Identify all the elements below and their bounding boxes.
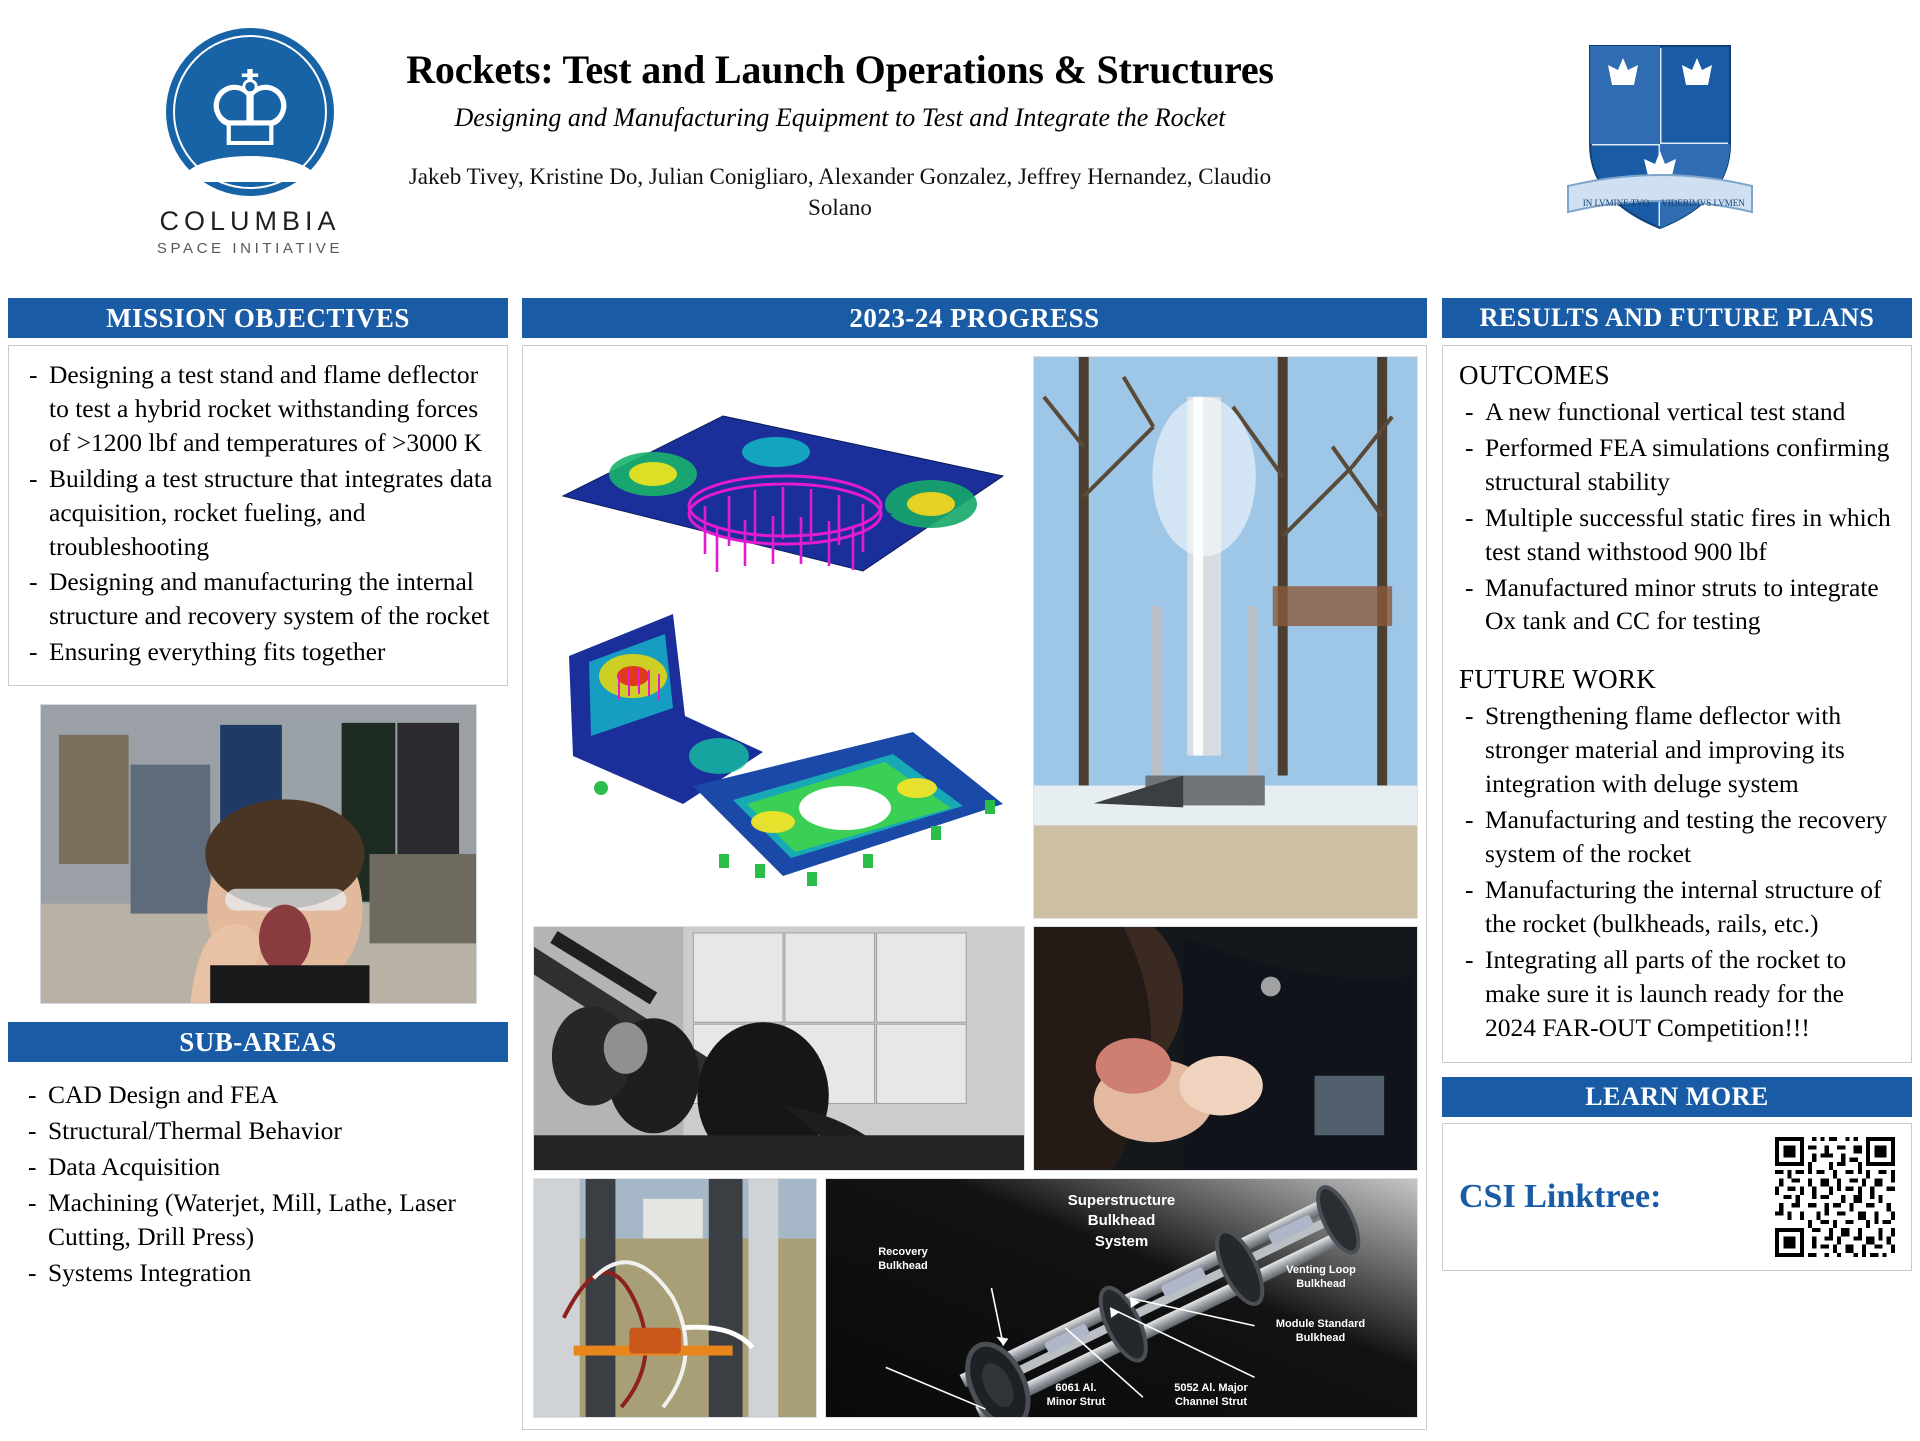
mission-objective-item: Building a test structure that integrate…: [19, 462, 493, 564]
learn-more-panel: CSI Linktree:: [1442, 1123, 1912, 1271]
crown-glyph-icon: ♔: [203, 57, 296, 161]
future-work-list: Strengthening flame deflector with stron…: [1455, 699, 1899, 1044]
outcomes-heading: OUTCOMES: [1459, 360, 1899, 391]
module-standard-bulkhead-label: Module Standard Bulkhead: [1238, 1317, 1403, 1346]
learn-more-header: LEARN MORE: [1442, 1077, 1912, 1117]
section-spacer: [1455, 640, 1899, 662]
static-fire-test-stand-photo: [1033, 356, 1418, 919]
recovery-bulkhead-label: Recovery Bulkhead: [848, 1245, 958, 1274]
csi-linktree-label: CSI Linktree:: [1459, 1178, 1661, 1216]
page-title: Rockets: Test and Launch Operations & St…: [400, 48, 1280, 93]
left-column: MISSION OBJECTIVES Designing a test stan…: [8, 298, 508, 1302]
sub-area-item: CAD Design and FEA: [18, 1078, 494, 1112]
poster-header: ♔ COLUMBIA SPACE INITIATIVE Rockets: Tes…: [0, 0, 1920, 292]
servo-mount-photo: [533, 1178, 817, 1418]
csi-linktree-qr-code[interactable]: [1775, 1137, 1895, 1257]
columbia-crown-icon: ♔: [166, 28, 334, 196]
sub-areas-header: SUB-AREAS: [8, 1022, 508, 1062]
mission-objectives-list: Designing a test stand and flame deflect…: [19, 358, 493, 669]
outcome-item: Performed FEA simulations confirming str…: [1455, 431, 1899, 499]
progress-header: 2023-24 PROGRESS: [522, 298, 1427, 338]
outcome-item: A new functional vertical test stand: [1455, 395, 1899, 429]
mission-objective-item: Designing and manufacturing the internal…: [19, 565, 493, 633]
sub-area-item: Systems Integration: [18, 1256, 494, 1290]
sub-areas-panel: CAD Design and FEAStructural/Thermal Beh…: [8, 1068, 508, 1301]
sub-area-item: Machining (Waterjet, Mill, Lathe, Laser …: [18, 1186, 494, 1254]
major-channel-strut-label: 5052 Al. Major Channel Strut: [1136, 1381, 1286, 1410]
future-work-heading: FUTURE WORK: [1459, 664, 1899, 695]
future-work-item: Manufacturing the internal structure of …: [1455, 873, 1899, 941]
columbia-shield-crest-icon: IN LVMINE TVO VIDEBIMVS LVMEN: [1560, 36, 1760, 236]
future-work-item: Integrating all parts of the rocket to m…: [1455, 943, 1899, 1045]
mission-objectives-header: MISSION OBJECTIVES: [8, 298, 508, 338]
sub-areas-list: CAD Design and FEAStructural/Thermal Beh…: [18, 1078, 494, 1289]
minor-strut-label: 6061 Al. Minor Strut: [1026, 1381, 1126, 1410]
team-lifting-rocket-photo: [533, 926, 1025, 1171]
team-in-machine-shop-photo: [40, 704, 477, 1004]
columbia-space-initiative-logo: ♔ COLUMBIA SPACE INITIATIVE: [150, 28, 350, 273]
shield-motto-left: IN LVMINE TVO: [1583, 198, 1650, 208]
venting-loop-bulkhead-label: Venting Loop Bulkhead: [1246, 1263, 1396, 1292]
sub-area-item: Data Acquisition: [18, 1150, 494, 1184]
title-block: Rockets: Test and Launch Operations & St…: [400, 48, 1280, 223]
page-subtitle: Designing and Manufacturing Equipment to…: [400, 103, 1280, 133]
results-and-future-plans-header: RESULTS AND FUTURE PLANS: [1442, 298, 1912, 338]
hands-assembly-photo: [1033, 926, 1418, 1171]
outcomes-list: A new functional vertical test standPerf…: [1455, 395, 1899, 638]
sub-area-item: Structural/Thermal Behavior: [18, 1114, 494, 1148]
logo-subwordmark: SPACE INITIATIVE: [157, 240, 343, 257]
progress-panel: Superstructure Bulkhead System Recovery …: [522, 345, 1427, 1430]
future-work-item: Manufacturing and testing the recovery s…: [1455, 803, 1899, 871]
mission-objective-item: Designing a test stand and flame deflect…: [19, 358, 493, 460]
conference-poster: ♔ COLUMBIA SPACE INITIATIVE Rockets: Tes…: [0, 0, 1920, 1441]
mission-objectives-panel: Designing a test stand and flame deflect…: [8, 345, 508, 686]
superstructure-cad-diagram: Superstructure Bulkhead System Recovery …: [825, 1178, 1418, 1418]
right-column: RESULTS AND FUTURE PLANS OUTCOMES A new …: [1442, 298, 1912, 1271]
cad-diagram-title: Superstructure Bulkhead System: [826, 1191, 1417, 1252]
mission-objective-item: Ensuring everything fits together: [19, 635, 493, 669]
results-and-future-plans-panel: OUTCOMES A new functional vertical test …: [1442, 345, 1912, 1063]
fea-simulation-group: [533, 356, 1033, 916]
logo-wordmark: COLUMBIA: [159, 206, 340, 237]
author-list: Jakeb Tivey, Kristine Do, Julian Conigli…: [400, 161, 1280, 223]
future-work-item: Strengthening flame deflector with stron…: [1455, 699, 1899, 801]
shield-motto-right: VIDEBIMVS LVMEN: [1661, 198, 1745, 208]
outcome-item: Multiple successful static fires in whic…: [1455, 501, 1899, 569]
middle-column: 2023-24 PROGRESS: [522, 298, 1427, 1430]
outcome-item: Manufactured minor struts to integrate O…: [1455, 571, 1899, 639]
